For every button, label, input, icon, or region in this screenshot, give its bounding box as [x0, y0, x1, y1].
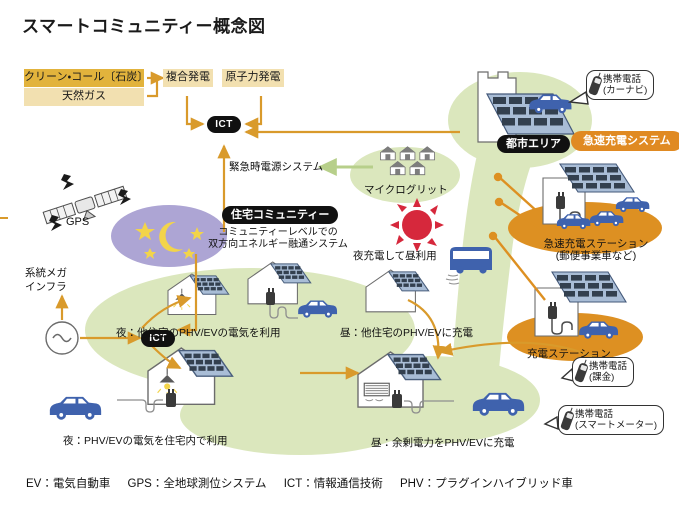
label-night-home-use: 夜：PHV/EVの電気を住宅内で利用	[63, 435, 228, 448]
callout-smart-meter-line1: 携帯電話	[575, 409, 613, 420]
legend-row: EV：電気自動車 GPS：全地球測位システム ICT：情報通信技術 PHV：プラ…	[26, 475, 587, 491]
source-box-clean-coal[interactable]: クリーン・コール〔石炭〕	[24, 69, 144, 87]
legend-gps: GPS：全地球測位システム	[128, 478, 267, 490]
charge-station-illustration	[535, 272, 626, 339]
label-fast-charge-system[interactable]: 急速充電システム	[571, 131, 679, 151]
legend-phv: PHV：プラグインハイブリッド車	[400, 478, 573, 490]
page-title: スマートコミュニティー概念図	[22, 12, 265, 37]
label-residential-sub-1: コミュニティーレベルでの	[198, 227, 358, 239]
callout-car-navi[interactable]: 携帯電話 (カーナビ)	[586, 70, 654, 100]
label-fast-charge-station-2: (郵便事業車など)	[526, 250, 666, 263]
sun-icon	[390, 198, 444, 252]
label-gps: GPS	[66, 216, 89, 229]
callout-smart-meter[interactable]: 携帯電話 (スマートメーター)	[558, 405, 664, 435]
label-mega-infra-line2: インフラ	[25, 281, 67, 294]
label-night-use-other-home: 夜：他住宅のPHV/EVの電気を利用	[116, 327, 281, 340]
mobile-phone-icon-3	[560, 410, 575, 431]
house-car-2	[50, 397, 101, 420]
callout-billing-line2: (課金)	[589, 372, 614, 383]
source-box-combined-power[interactable]: 複合発電	[163, 69, 213, 87]
source-box-natural-gas[interactable]: 天然ガス	[24, 88, 144, 106]
callout-car-navi-line2: (カーナビ)	[603, 85, 647, 96]
ict-node-top[interactable]: ICT	[207, 116, 241, 133]
label-day-charge-other-home: 昼：他住宅のPHV/EVに充電	[340, 327, 473, 340]
callout-smart-meter-line2: (スマートメーター)	[575, 420, 657, 431]
diagram-canvas: スマートコミュニティー概念図 クリーン・コール〔石炭〕 天然ガス 複合発電 原子…	[0, 0, 679, 505]
callout-billing[interactable]: 携帯電話 (課金)	[572, 357, 634, 387]
legend-ev: EV：電気自動車	[26, 478, 110, 490]
mobile-phone-icon-2	[574, 362, 589, 383]
label-city-area[interactable]: 都市エリア	[497, 135, 570, 153]
callout-billing-line1: 携帯電話	[589, 361, 627, 372]
label-emergency-power: 緊急時電源システム	[229, 161, 323, 174]
label-mega-infra-line1: 系統メガ	[25, 267, 67, 280]
grid-generator-icon	[46, 322, 78, 354]
label-day-surplus-charge: 昼：余剰電力をPHV/EVに充電	[371, 437, 515, 450]
label-microgrid: マイクログリット	[364, 184, 448, 197]
legend-ict: ICT：情報通信技術	[284, 478, 383, 490]
source-box-nuclear-power[interactable]: 原子力発電	[222, 69, 284, 87]
label-residential-community[interactable]: 住宅コミュニティー	[222, 206, 338, 224]
callout-car-navi-line1: 携帯電話	[603, 74, 641, 85]
mobile-phone-icon	[588, 75, 603, 96]
label-night-charge-day-use: 夜充電して昼利用	[353, 250, 437, 263]
label-residential-sub-2: 双方向エネルギー融通システム	[192, 239, 364, 251]
